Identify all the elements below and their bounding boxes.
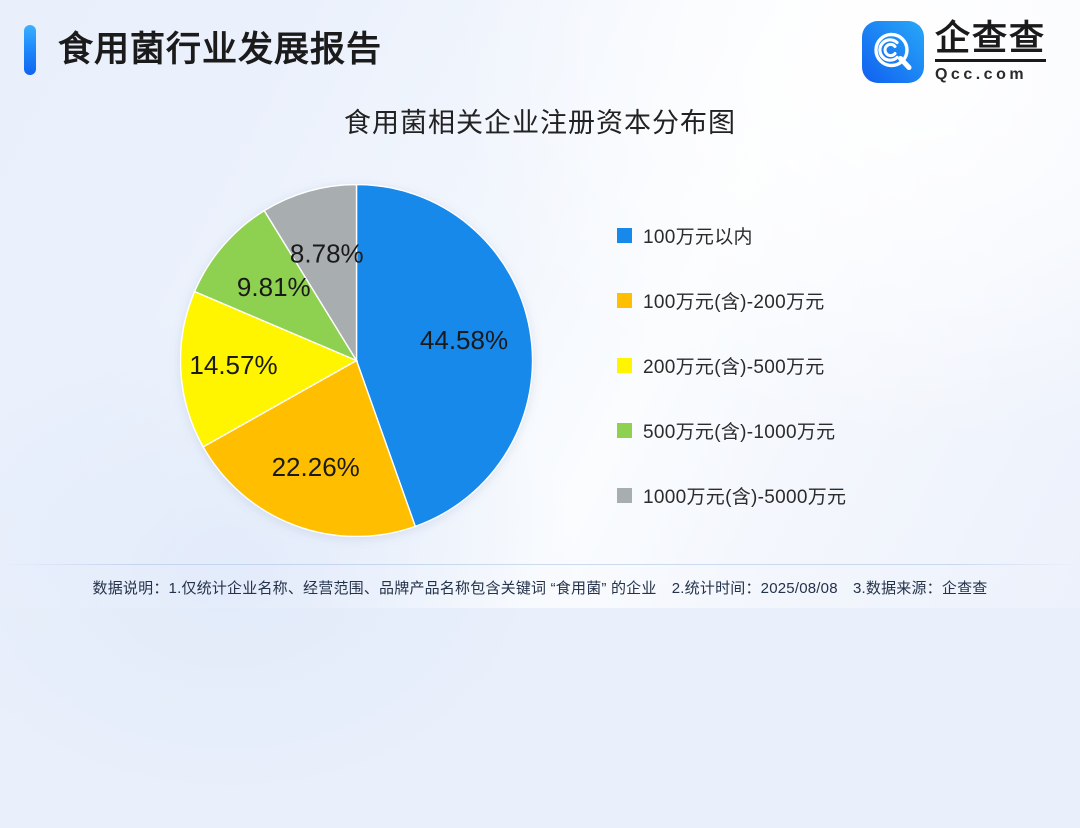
brand-logo[interactable]: 企查查 Qcc.com (862, 20, 1046, 84)
legend-item-label: 100万元以内 (643, 222, 753, 249)
legend-item-label: 1000万元(含)-5000万元 (643, 482, 846, 509)
pie-chart-svg: 44.58%22.26%14.57%9.81%8.78% (180, 184, 533, 537)
footer-divider (0, 564, 1080, 565)
pie-slice-label: 14.57% (189, 350, 277, 380)
footer-note: 数据说明：1.仅统计企业名称、经营范围、品牌产品名称包含关键词 “食用菌” 的企… (0, 577, 1080, 598)
pie-slice-label: 8.78% (290, 238, 364, 268)
legend-item-label: 200万元(含)-500万元 (643, 352, 825, 379)
legend-item[interactable]: 200万元(含)-500万元 (617, 333, 917, 398)
qcc-logo-icon (862, 21, 924, 83)
legend-item[interactable]: 1000万元(含)-5000万元 (617, 463, 917, 528)
legend-item-label: 100万元(含)-200万元 (643, 287, 825, 314)
legend-item-label: 500万元(含)-1000万元 (643, 417, 835, 444)
chart-title: 食用菌相关企业注册资本分布图 (0, 101, 1080, 140)
pie-slice-label: 22.26% (272, 452, 360, 482)
legend-swatch-icon (617, 358, 632, 373)
legend-swatch-icon (617, 423, 632, 438)
brand-name-cn: 企查查 (935, 20, 1046, 62)
pie-slice-label: 9.81% (237, 272, 311, 302)
page-header: 食用菌行业发展报告 企查查 Qcc.com (0, 0, 1080, 98)
legend-swatch-icon (617, 228, 632, 243)
legend-item[interactable]: 100万元以内 (617, 203, 917, 268)
legend-item[interactable]: 100万元(含)-200万元 (617, 268, 917, 333)
legend-swatch-icon (617, 488, 632, 503)
legend-swatch-icon (617, 293, 632, 308)
brand-name-en: Qcc.com (935, 65, 1046, 84)
pie-slice-label: 44.58% (420, 325, 508, 355)
pie-chart: 44.58%22.26%14.57%9.81%8.78% (180, 184, 533, 537)
page-title: 食用菌行业发展报告 (58, 21, 382, 79)
title-accent-bar (24, 25, 36, 75)
chart-legend: 100万元以内100万元(含)-200万元200万元(含)-500万元500万元… (617, 203, 917, 528)
legend-item[interactable]: 500万元(含)-1000万元 (617, 398, 917, 463)
